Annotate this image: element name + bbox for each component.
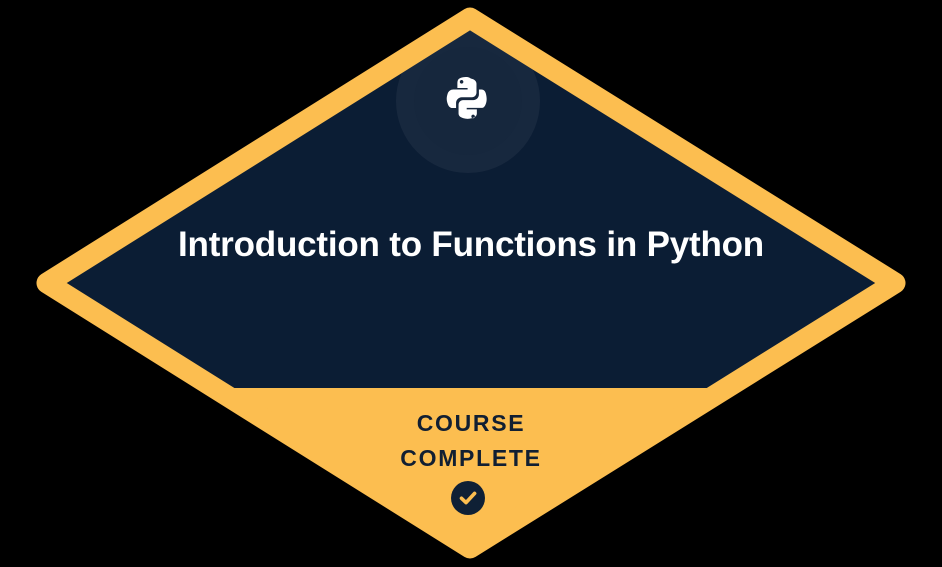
- course-completion-badge: Introduction to Functions in Python COUR…: [0, 0, 942, 567]
- badge-graphic: [0, 0, 942, 567]
